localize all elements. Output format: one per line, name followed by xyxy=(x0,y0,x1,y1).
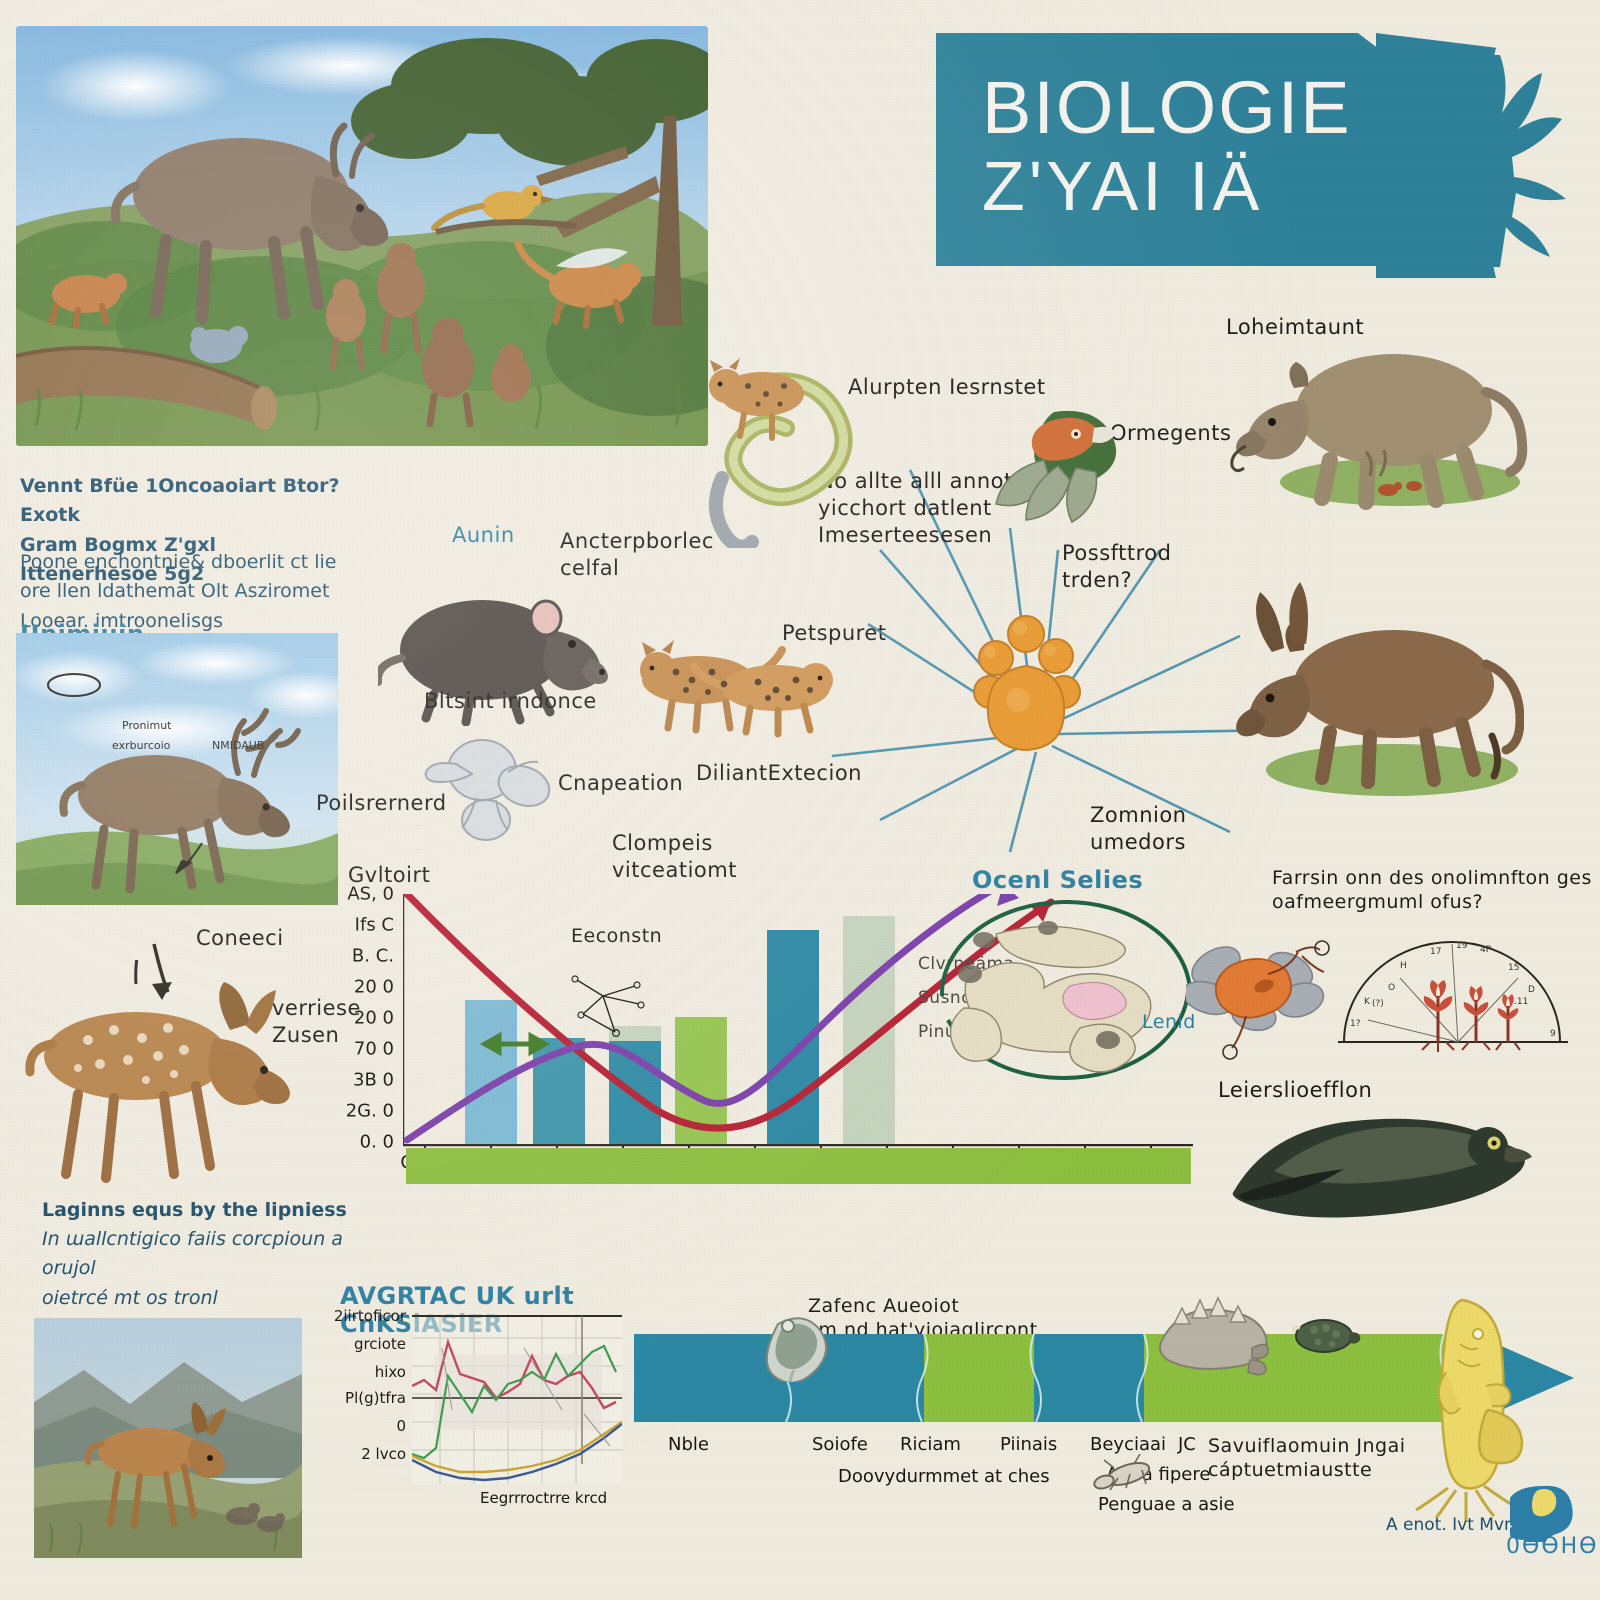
green-band xyxy=(406,1148,1191,1184)
footer-logo-icon xyxy=(1510,1480,1578,1542)
lc-y-tick: 0 xyxy=(396,1417,406,1435)
lc-y-tick: Pl(g)tfra xyxy=(345,1389,406,1407)
line-chart-plot: 2iirtoficor grciote hixo Pl(g)tfra 0 2 l… xyxy=(412,1314,622,1484)
world-map-illustration xyxy=(930,900,1210,1080)
title-line-2: Z'YAI IÄ xyxy=(982,151,1382,221)
poster-title: BIOLOGIE Z'YAI IÄ xyxy=(982,71,1382,221)
fossil-jaw-icon xyxy=(1150,1296,1270,1380)
y-tick: 3B 0 xyxy=(353,1070,394,1091)
insect-fossil-icon xyxy=(1088,1450,1164,1496)
label-zomnion: Zomnion umedors xyxy=(1090,802,1187,856)
lc-y-tick: grciote xyxy=(354,1335,406,1353)
timeline-label-below-2: Riciam xyxy=(900,1434,961,1455)
label-poilsrernerd: Poilsrernerd xyxy=(316,790,447,817)
timeline-sub-0: Doovydurmmet at ches xyxy=(838,1466,1050,1487)
down-arrow-icon xyxy=(140,940,192,1008)
snake-predation-illustration xyxy=(690,358,870,548)
timeline-label-below-5: JC xyxy=(1178,1434,1196,1455)
coral-dome-diagram: KOH 17194P 15D9 1?(?).11 xyxy=(1328,930,1578,1070)
y-tick: 20 0 xyxy=(354,1008,394,1029)
y-tick: 2G. 0 xyxy=(346,1101,394,1122)
fossil-shell-icon xyxy=(760,1310,830,1382)
svg-text:(?): (?) xyxy=(1372,999,1384,1009)
svg-text:17: 17 xyxy=(1430,947,1441,957)
map-heading: Ocenl Selies xyxy=(972,866,1143,894)
habitat-illustration xyxy=(16,26,708,446)
line-chart-xlabel: Eegrrroctrre krcd xyxy=(480,1489,607,1507)
label-alurpten: Alurpten Iesrnstet xyxy=(848,374,1046,401)
lc-y-tick: hixo xyxy=(375,1363,406,1381)
timeline-label-below-6: Savuiflaomuin Jngai cáptuetmiaustte xyxy=(1208,1434,1406,1483)
title-line-1: BIOLOGIE xyxy=(982,71,1382,145)
y-tick: AS, 0 xyxy=(347,884,394,905)
lc-y-tick: 2iirtoficor xyxy=(334,1307,406,1325)
central-node-cluster xyxy=(960,610,1100,760)
label-aunin: Aunin xyxy=(452,522,515,549)
bottom-left-bold: Laginns equs by the lipniess xyxy=(42,1196,382,1225)
chart-annotation: Eeconstn xyxy=(571,924,662,948)
svg-text:1?: 1? xyxy=(1350,1019,1361,1029)
label-bltsint: Bltsint irndonce xyxy=(424,688,597,715)
svg-text:Pronimut: Pronimut xyxy=(122,719,172,732)
antelope-habitat-photo xyxy=(34,1318,302,1558)
y-tick: Ifs C xyxy=(355,915,394,936)
large-mammal-illustration xyxy=(1218,330,1530,530)
svg-text:H: H xyxy=(1400,961,1407,971)
reindeer-inset-illustration: Pronimut exrburcoio NMIDAUB xyxy=(16,633,338,905)
svg-text:4P: 4P xyxy=(1480,945,1492,955)
label-posssttrod: Possfttrod trden? xyxy=(1062,540,1172,594)
line-chart-panel: AVGRTAC UK urlt CnKSlASlER xyxy=(334,1282,634,1527)
footer-logo-text: 0ӨӨHӨ xyxy=(1506,1534,1599,1559)
timeline-sub-2: Penguae a asie xyxy=(1098,1494,1235,1515)
svg-text:O: O xyxy=(1388,983,1395,993)
bird-illustration xyxy=(1214,1095,1534,1235)
parrot-illustration xyxy=(990,398,1130,528)
svg-text:K: K xyxy=(1364,997,1371,1007)
label-cnapeation: Cnapeation xyxy=(558,770,683,797)
label-farrsin: Farrsin onn des onolimnfton ges oafmeerg… xyxy=(1272,866,1592,915)
svg-text:15: 15 xyxy=(1508,963,1519,973)
svg-text:.11: .11 xyxy=(1514,997,1528,1007)
title-banner: BIOLOGIE Z'YAI IÄ xyxy=(936,33,1600,278)
timeline-label-below-0: Nble xyxy=(668,1434,709,1455)
fossil-turtle-icon xyxy=(1292,1316,1362,1358)
y-tick: 70 0 xyxy=(354,1039,394,1060)
y-tick: 20 0 xyxy=(354,977,394,998)
svg-text:NMIDAUB: NMIDAUB xyxy=(212,739,264,752)
svg-text:9: 9 xyxy=(1550,1029,1556,1039)
timeline-label-below-3: Piinais xyxy=(1000,1434,1057,1455)
lc-y-tick: 2 lvco xyxy=(361,1445,406,1463)
svg-text:19: 19 xyxy=(1456,941,1468,951)
antelope-illustration xyxy=(1194,556,1524,806)
svg-text:exrburcoio: exrburcoio xyxy=(112,739,171,752)
svg-text:D: D xyxy=(1528,985,1535,995)
insect-outline-illustration xyxy=(420,728,570,848)
tree-silhouette-icon xyxy=(1422,55,1600,277)
label-connect: Coneeci xyxy=(196,925,284,952)
y-tick: B. C. xyxy=(352,946,394,967)
y-tick: 0. 0 xyxy=(360,1132,394,1153)
timeline-label-below-1: Soiofe xyxy=(812,1434,868,1455)
